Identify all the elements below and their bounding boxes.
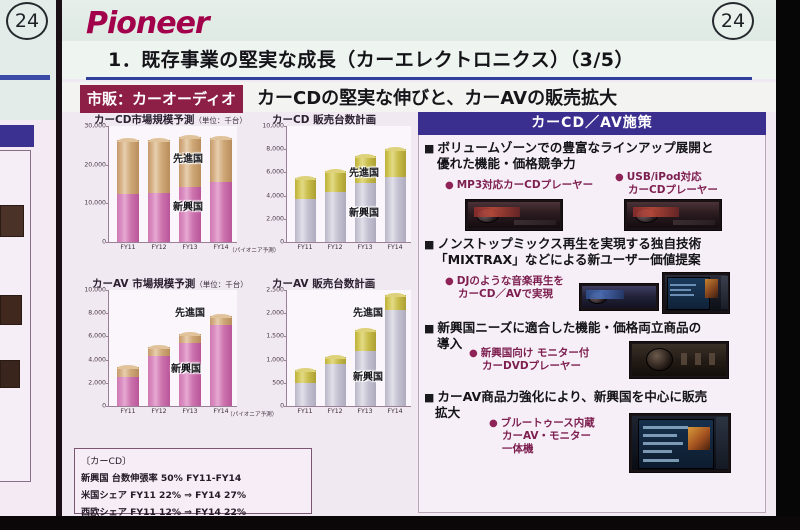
bullet-1-sub-2-line-2: カーCDプレーヤー (628, 184, 718, 197)
title-underline (86, 77, 752, 80)
panel-header: カーCD／AV施策 (418, 112, 766, 135)
adjacent-slide-sliver (0, 0, 62, 524)
dot-bullet-icon: ● (469, 348, 478, 359)
dot-bullet-icon: ● (615, 172, 624, 183)
square-bullet-icon: ■ (424, 391, 434, 404)
legend-advanced: 先進国 (353, 304, 383, 319)
legend-emerging: 新興国 (171, 360, 201, 375)
bullet-1-sub-2-line-1: ●USB/iPod対応 (615, 171, 702, 184)
bullet-2-line-1: ■ノンストップミックス再生を実現する独自技術 (424, 236, 701, 253)
bullet-2-line-2: 「MIXTRAX」などによる新ユーザー価値提案 (435, 252, 701, 268)
plot-area: 30,000 20,000 10,000 0 (108, 126, 237, 243)
product-photo-usb-ipod-car-cd (624, 199, 722, 231)
charts-area: カーCD市場規模予測（単位：千台） 30,000 20,000 10,000 0 (70, 112, 418, 442)
bullet-1-line-1: ■ボリュームゾーンでの豊富なラインアップ展開と (424, 140, 713, 157)
bar-fy14 (210, 316, 232, 406)
page-number: 24 (712, 2, 754, 40)
bar-fy12 (148, 140, 170, 242)
bullet-3-line-2: 導入 (437, 336, 462, 352)
sliver-photo-2 (0, 295, 22, 325)
screenshot-stage: 24 Pioneer 24 1．既存事業の堅実な成長（カーエレクトロニクス）（3… (0, 0, 800, 530)
legend-advanced: 先進国 (349, 164, 379, 179)
bullet-3-line-1: ■新興国ニーズに適合した機能・価格両立商品の (424, 320, 701, 337)
measures-panel: カーCD／AV施策 ■ボリュームゾーンでの豊富なラインアップ展開と 優れた機能・… (418, 112, 766, 512)
pioneer-logo: Pioneer (86, 6, 209, 41)
bullet-1-line-2: 優れた機能・価格競争力 (437, 156, 576, 172)
bar-fy12 (325, 171, 346, 242)
product-photo-mp3-car-cd (465, 199, 563, 231)
bullet-2-sub-1-line-1: ●DJのような音楽再生を (445, 275, 564, 288)
product-photo-mixtrax-car-av (662, 272, 730, 314)
bullet-4-line-1: ■カーAV商品力強化により、新興国を中心に販売 (424, 389, 707, 406)
chart-car-cd-market: カーCD市場規模予測（単位：千台） 30,000 20,000 10,000 0 (70, 112, 246, 270)
footnote-line-2: 米国シェア FY11 22% ⇒ FY14 27% (81, 487, 311, 501)
bullet-1-sub-1: ●MP3対応カーCDプレーヤー (445, 179, 593, 192)
bullet-3-sub-1-line-2: カーDVDプレーヤー (482, 360, 581, 373)
panel-body: ■ボリュームゾーンでの豊富なラインアップ展開と 優れた機能・価格競争力 ●MP3… (418, 135, 766, 513)
bar-fy14 (210, 138, 232, 242)
chart-title: カーCD市場規模予測（単位：千台） (94, 112, 247, 127)
chart-car-av-market: カーAV 市場規模予測（単位：千台） 10,000 8,000 6,000 4,… (70, 276, 246, 436)
bullet-4-line-2: 拡大 (435, 405, 460, 421)
bar-fy11 (295, 370, 316, 406)
chart-title: カーAV 市場規模予測（単位：千台） (92, 276, 248, 291)
page-number-left: 24 (6, 2, 48, 40)
bar-fy14 (385, 149, 406, 242)
bullet-2-sub-1-line-2: カーCD／AVで実現 (458, 288, 553, 301)
sliver-photo-3 (0, 360, 20, 388)
product-photo-bluetooth-car-av-monitor (629, 413, 731, 473)
product-photo-mixtrax-car-cd (579, 283, 659, 311)
slide: Pioneer 24 1．既存事業の堅実な成長（カーエレクトロニクス）（3/5）… (62, 0, 776, 522)
footnote-box: 〔カーCD〕 新興国 台数伸張率 50% FY11-FY14 米国シェア FY1… (74, 448, 312, 514)
title-zone: 1．既存事業の堅実な成長（カーエレクトロニクス）（3/5） (62, 41, 776, 79)
sliver-rule (0, 75, 50, 80)
category-tag: 市販：カーオーディオ (80, 85, 243, 113)
sliver-panel-header (0, 125, 34, 147)
bar-fy12 (325, 357, 346, 406)
bar-fy14 (385, 295, 406, 406)
bar-fy11 (117, 140, 139, 242)
square-bullet-icon: ■ (424, 238, 434, 251)
legend-advanced: 先進国 (173, 150, 203, 165)
product-photo-car-dvd (629, 341, 729, 379)
sliver-photo-1 (0, 205, 24, 237)
dot-bullet-icon: ● (445, 276, 454, 287)
chart-title: カーCD 販売台数計画 (272, 112, 376, 127)
legend-emerging: 新興国 (349, 204, 379, 219)
square-bullet-icon: ■ (424, 322, 434, 335)
square-bullet-icon: ■ (424, 142, 434, 155)
dot-bullet-icon: ● (489, 418, 498, 429)
slide-header: Pioneer 24 (62, 0, 776, 41)
footnote-line-1: 新興国 台数伸張率 50% FY11-FY14 (81, 470, 311, 484)
bullet-4-sub-1-line-3: 一体機 (502, 443, 534, 456)
chart-title: カーAV 販売台数計画 (272, 276, 375, 291)
subheading-text: カーCDの堅実な伸びと、カーAVの販売拡大 (257, 84, 617, 110)
legend-emerging: 新興国 (353, 368, 383, 383)
bar-fy11 (117, 367, 139, 406)
legend-emerging: 新興国 (173, 198, 203, 213)
bullet-4-sub-1-line-2: カーAV・モニター (502, 430, 591, 443)
footnote-heading: 〔カーCD〕 (81, 453, 311, 467)
plot-area: 10,000 8,000 6,000 4,000 2,000 0 (108, 290, 237, 407)
legend-advanced: 先進国 (175, 304, 205, 319)
bar-fy12 (148, 347, 170, 406)
screen-edge-right (776, 0, 800, 530)
screen-edge-bottom (0, 516, 800, 530)
dot-bullet-icon: ● (445, 180, 454, 191)
chart-car-av-sales: カーAV 販売台数計画 2,500 2,000 1,500 1,000 500 … (246, 276, 418, 436)
plot-area: 2,500 2,000 1,500 1,000 500 0 (286, 290, 411, 407)
chart-car-cd-sales: カーCD 販売台数計画 10,000 8,000 6,000 4,000 2,0… (246, 112, 418, 270)
subheading-row: 市販：カーオーディオ カーCDの堅実な伸びと、カーAVの販売拡大 (62, 82, 776, 112)
bullet-3-sub-1-line-1: ●新興国向け モニター付 (469, 347, 589, 360)
logo-text: Pioneer (86, 6, 209, 41)
bullet-4-sub-1-line-1: ●ブルートゥース内蔵 (489, 417, 595, 430)
plot-area: 10,000 8,000 6,000 4,000 2,000 0 (286, 126, 411, 243)
bar-fy11 (295, 178, 316, 242)
page-title: 1．既存事業の堅実な成長（カーエレクトロニクス）（3/5） (108, 45, 634, 72)
